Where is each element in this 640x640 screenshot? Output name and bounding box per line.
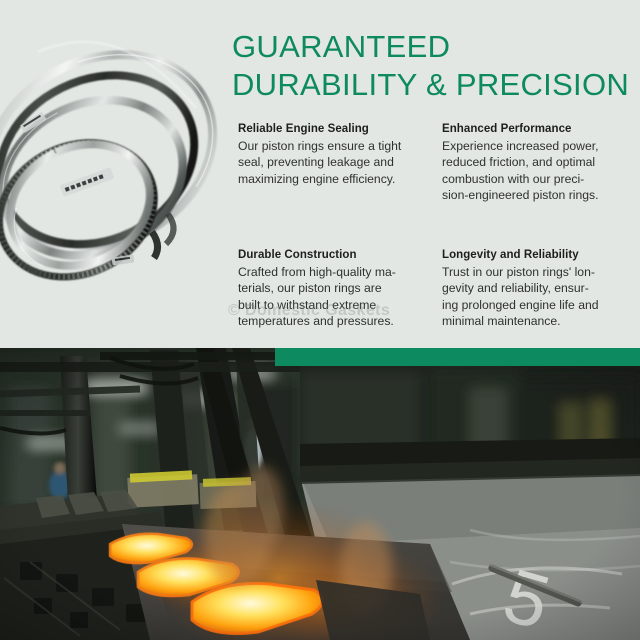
feature-title: Reliable Engine Sealing: [238, 122, 442, 137]
feature-grid: Reliable Engine Sealing Our piston rings…: [238, 122, 634, 330]
top-content-section: GUARANTEED DURABILITY & PRECISION Reliab…: [0, 0, 640, 348]
feature-title: Longevity and Reliability: [442, 248, 634, 263]
factory-forging-image: 5: [0, 348, 640, 640]
feature-body-line: temperatures and pressures.: [238, 313, 422, 329]
piston-rings-product-image: [0, 0, 232, 348]
feature-body-line: ing prolonged engine life and: [442, 297, 626, 313]
feature-body-line: gevity and reliability, ensur-: [442, 280, 626, 296]
feature-title: Enhanced Performance: [442, 122, 634, 137]
feature-title: Durable Construction: [238, 248, 442, 263]
headline-line-1: GUARANTEED: [232, 28, 632, 66]
feature-body-line: Experience increased power,: [442, 138, 626, 154]
feature-body-line: seal, preventing leakage and: [238, 154, 422, 170]
feature-body: Our piston rings ensure a tight seal, pr…: [238, 138, 422, 187]
factory-illustration: 5: [0, 348, 640, 640]
page-title: GUARANTEED DURABILITY & PRECISION: [232, 28, 632, 104]
feature-body-line: terials, our piston rings are: [238, 280, 422, 296]
feature-body-line: minimal maintenance.: [442, 313, 626, 329]
feature-item-durable-construction: Durable Construction Crafted from high-q…: [238, 248, 442, 330]
feature-body-line: reduced friction, and optimal: [442, 154, 626, 170]
feature-body-line: Our piston rings ensure a tight: [238, 138, 422, 154]
feature-body-line: sion-engineered piston rings.: [442, 187, 626, 203]
feature-body: Experience increased power, reduced fric…: [442, 138, 626, 204]
feature-body-line: maximizing engine efficiency.: [238, 171, 422, 187]
green-accent-bar: [275, 348, 640, 366]
feature-item-enhanced-performance: Enhanced Performance Experience increase…: [442, 122, 634, 248]
feature-body-line: built to withstand extreme: [238, 297, 422, 313]
feature-body-line: Crafted from high-quality ma-: [238, 264, 422, 280]
feature-body: Trust in our piston rings' lon- gevity a…: [442, 264, 626, 330]
promo-infographic: GUARANTEED DURABILITY & PRECISION Reliab…: [0, 0, 640, 640]
piston-rings-illustration: [0, 0, 232, 348]
headline-line-2: DURABILITY & PRECISION: [232, 66, 632, 104]
feature-item-reliable-engine-sealing: Reliable Engine Sealing Our piston rings…: [238, 122, 442, 248]
feature-item-longevity-and-reliability: Longevity and Reliability Trust in our p…: [442, 248, 634, 330]
feature-body-line: combustion with our preci-: [442, 171, 626, 187]
feature-body: Crafted from high-quality ma- terials, o…: [238, 264, 422, 330]
feature-body-line: Trust in our piston rings' lon-: [442, 264, 626, 280]
